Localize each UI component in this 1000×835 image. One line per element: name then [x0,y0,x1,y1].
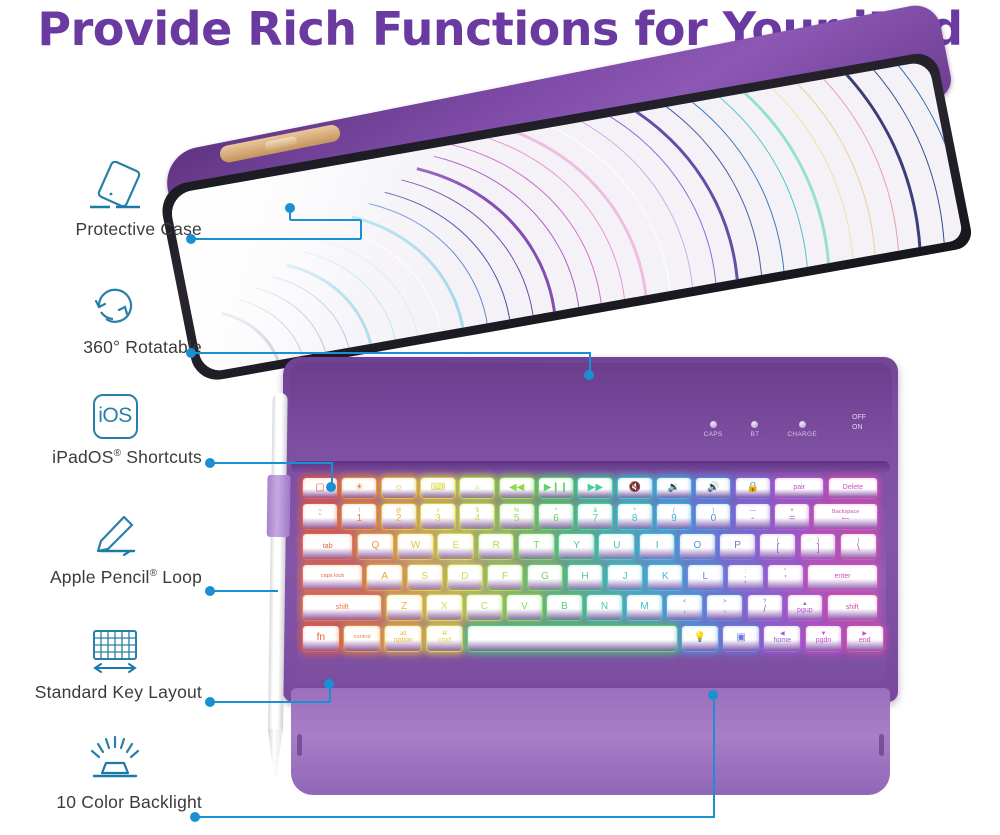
pencil-tip [267,729,283,777]
key-fn[interactable]: fn [302,625,340,652]
key-label: ] [817,544,820,555]
key-key-n[interactable]: N [586,594,623,621]
key-period[interactable]: >. [706,594,743,621]
key-slash[interactable]: ?/ [747,594,784,621]
key-key-u[interactable]: U [598,533,635,560]
key-label: T [533,541,539,552]
key-key-g[interactable]: G [527,564,564,591]
key-digit-0[interactable]: )0 [695,503,731,530]
key-brightness-down[interactable]: ☀ [341,477,377,499]
key-shift-right[interactable]: shift [827,594,878,621]
key-label: end [859,637,871,644]
key-brightness-up[interactable]: ☼ [381,477,417,499]
key-label: Delete [843,484,863,491]
feature-protective-case: Protective Case [0,157,230,240]
key-arrow-up[interactable]: ▲pgup [787,594,824,621]
key-key-q[interactable]: Q [357,533,394,560]
key-label: ` [318,514,321,525]
volume-up-icon: 🔊 [707,483,719,494]
bottom-row: fncontrolaltoption⌘cmd💡▣◀home▼pgdn▶end [302,625,881,652]
key-key-b[interactable]: B [546,594,583,621]
ipad-device [152,9,975,403]
key-backslash[interactable]: |\ [840,533,877,560]
key-label: K [662,572,669,583]
key-control[interactable]: control [343,625,381,652]
indicator-charge: CHARGE [787,421,817,438]
brightness-down-icon: ☀ [355,483,364,494]
key-key-p[interactable]: P [719,533,756,560]
key-key-y[interactable]: Y [558,533,595,560]
key-key-t[interactable]: T [518,533,555,560]
key-pair[interactable]: pair [774,477,824,499]
key-label: Z [401,602,407,613]
key-volume-down[interactable]: 🔉 [656,477,692,499]
key-label: enter [834,573,850,580]
callout-dot-ipados-end [326,482,336,492]
key-arrow-down[interactable]: ▼pgdn [805,625,843,652]
pencil-body [268,393,288,733]
key-label: 7 [593,514,599,525]
key-label: W [411,541,420,552]
feature-rotatable: 360° Rotatable [0,275,230,358]
key-digit-7[interactable]: &7 [577,503,613,530]
key-label: M [640,602,648,613]
key-search[interactable]: ⌕ [459,477,495,499]
key-key-r[interactable]: R [478,533,515,560]
key-volume-up[interactable]: 🔊 [695,477,731,499]
key-lock[interactable]: 🔒 [735,477,771,499]
brightness-up-icon: ☼ [394,483,403,494]
search-icon: ⌕ [474,483,480,494]
key-label: A [381,572,388,583]
keyboard-backlight-icon: ⌨ [431,483,445,494]
key-label: 2 [396,514,402,525]
leader-line-hinge [290,219,361,221]
indicator-lamp-bt [751,421,758,428]
leader-line-hinge-riser [289,208,291,220]
key-label: pgup [797,607,813,614]
indicator-label-bt: BT [750,431,759,438]
key-delete[interactable]: Delete [828,477,878,499]
key-label: U [613,541,620,552]
feature-label: Standard Key Layout [0,682,230,703]
key-digit-2[interactable]: @2 [381,503,417,530]
feature-backlight: 10 Color Backlight [0,730,230,813]
ios-badge-icon: iOS [0,385,230,447]
backlight-glow-icon [0,730,230,792]
leader-line-pencil [210,590,278,592]
apple-pencil [263,393,292,778]
feature-ipados-shortcuts: iOS iPadOS® Shortcuts [0,385,230,468]
feature-key-layout: Standard Key Layout [0,620,230,703]
key-label: 8 [632,514,638,525]
key-label: Y [573,541,580,552]
key-arrow-right[interactable]: ▶end [846,625,884,652]
key-key-v[interactable]: V [506,594,543,621]
leader-line-keylayout [210,701,330,703]
key-label: fn [317,633,325,644]
key-label: 3 [435,514,441,525]
callout-dot-backlight-end [708,690,718,700]
key-tab[interactable]: tab [302,533,353,560]
key-quote[interactable]: "' [767,564,804,591]
key-arrow-left[interactable]: ◀home [763,625,801,652]
key-label: Q [371,541,379,552]
key-label: V [521,602,528,613]
lip-notch-right [879,734,884,756]
key-digit-6[interactable]: ^6 [538,503,574,530]
key-label: F [502,572,508,583]
leader-line-protective-case-riser [360,220,362,239]
key-option[interactable]: altoption [384,625,422,652]
key-digit-5[interactable]: %5 [499,503,535,530]
key-key-i[interactable]: I [639,533,676,560]
key-label: B [561,602,568,613]
key-label: N [601,602,608,613]
number-row: ~`!1@2#3$4%5^6&7*8(9)0—-+=Backspace⟵ [302,503,881,530]
key-key-j[interactable]: J [607,564,644,591]
key-label: - [751,514,754,525]
key-caps-lock[interactable]: caps lock [302,564,363,591]
key-label: J [623,572,628,583]
leader-line-rotatable [191,352,591,354]
lock-icon: 🔒 [746,483,758,494]
key-tilde[interactable]: ~` [302,503,338,530]
ios-badge-text: iOS [93,394,138,439]
key-label: O [693,541,701,552]
key-key-x[interactable]: X [426,594,463,621]
key-comma[interactable]: <, [666,594,703,621]
key-label: cmd [438,637,451,644]
case-front-lip [291,687,890,795]
key-play-pause[interactable]: ▶❙❙ [538,477,574,499]
lip-notch-left [297,734,302,756]
indicator-lamp-caps [710,421,717,428]
indicator-lamp-charge [799,421,806,428]
home-row: caps lockASDFGHJKL:;"'enter [302,564,881,591]
mute-icon: 🔇 [628,483,640,494]
globe-key-icon: ▣ [736,633,745,644]
feature-pencil-loop: Apple Pencil® Loop [0,505,230,588]
key-label: shift [846,604,859,611]
key-label: S [421,572,428,583]
power-switch-label: OFF ON [852,413,866,433]
tablet-case-icon [0,157,230,219]
key-enter[interactable]: enter [807,564,878,591]
key-label: caps lock [321,574,344,580]
key-digit-4[interactable]: $4 [459,503,495,530]
key-label: = [789,514,795,525]
key-digit-9[interactable]: (9 [656,503,692,530]
callout-dot-keylayout-end [324,679,334,689]
key-key-h[interactable]: H [567,564,604,591]
key-well: ▢☀☼⌨⌕◀◀▶❙❙▶▶🔇🔉🔊🔒pairDelete~`!1@2#3$4%5^6… [297,473,886,683]
key-command[interactable]: ⌘cmd [426,625,464,652]
key-digit-3[interactable]: #3 [420,503,456,530]
product-infographic: Provide Rich Functions for Your iPad CAP… [0,0,1000,835]
key-label: P [734,541,741,552]
key-mute[interactable]: 🔇 [617,477,653,499]
rotate-360-icon [0,275,230,337]
key-sub-label: ⟵ [842,517,850,523]
key-rewind[interactable]: ◀◀ [499,477,535,499]
backlight-key-icon: 💡 [694,633,706,644]
key-label: ; [744,575,747,586]
key-backlight-key[interactable]: 💡 [681,625,719,652]
key-minus[interactable]: —- [735,503,771,530]
key-label: 4 [475,514,481,525]
rewind-icon: ◀◀ [509,483,524,494]
stylus-pen-icon [0,505,230,567]
key-label: tab [323,543,333,550]
key-label: 6 [553,514,559,525]
key-label: 1 [356,514,362,525]
callout-dot-rotatable-end [584,370,594,380]
key-key-d[interactable]: D [447,564,484,591]
qwerty-row: tabQWERTYUIOP{[}]|\ [302,533,881,560]
key-label: R [492,541,499,552]
key-bracket-right[interactable]: }] [800,533,837,560]
key-label: 9 [671,514,677,525]
case-shelf [291,461,890,473]
key-label: G [541,572,549,583]
leader-line-backlight-riser [713,700,715,817]
key-equals[interactable]: += [774,503,810,530]
key-label: [ [776,544,779,555]
key-label: shift [336,604,349,611]
key-space[interactable] [467,625,678,652]
key-label: pair [793,484,805,491]
key-fast-forward[interactable]: ▶▶ [577,477,613,499]
key-key-o[interactable]: O [679,533,716,560]
key-label: home [774,637,792,644]
key-label: control [354,635,371,641]
key-label: C [481,602,488,613]
keyboard-base: CAPSBTCHARGE OFF ON ▢☀☼⌨⌕◀◀▶❙❙▶▶🔇🔉🔊🔒pair… [283,357,898,702]
key-key-l[interactable]: L [687,564,724,591]
leader-line-protective-case [191,238,361,240]
key-key-e[interactable]: E [437,533,474,560]
key-keyboard-backlight[interactable]: ⌨ [420,477,456,499]
key-label: ' [784,575,786,586]
indicator-caps: CAPS [704,421,723,438]
key-label: . [723,605,726,616]
key-key-w[interactable]: W [397,533,434,560]
power-on-label: ON [852,423,866,433]
key-key-z[interactable]: Z [386,594,423,621]
leader-line-ipados [210,462,332,464]
key-key-s[interactable]: S [407,564,444,591]
home-icon: ▢ [315,483,324,494]
key-label: 0 [711,514,717,525]
key-key-m[interactable]: M [626,594,663,621]
key-label: H [581,572,588,583]
key-label: / [763,605,766,616]
key-backspace[interactable]: Backspace⟵ [813,503,878,530]
status-indicators: CAPSBTCHARGE [704,421,817,438]
key-semicolon[interactable]: :; [727,564,764,591]
feature-label: Apple Pencil® Loop [0,567,230,588]
fast-forward-icon: ▶▶ [588,483,603,494]
keyboard-width-icon [0,620,230,682]
key-label: 5 [514,514,520,525]
power-off-label: OFF [852,413,866,423]
key-label: option [394,637,413,644]
key-label: Backspace [832,510,859,516]
indicator-bt: BT [750,421,759,438]
indicator-label-charge: CHARGE [787,431,817,438]
key-key-c[interactable]: C [466,594,503,621]
key-digit-8[interactable]: *8 [617,503,653,530]
pencil-loop-holder [267,475,291,537]
indicator-label-caps: CAPS [704,431,723,438]
key-bracket-left[interactable]: {[ [759,533,796,560]
play-pause-icon: ▶❙❙ [544,483,568,494]
feature-label: 10 Color Backlight [0,792,230,813]
key-key-f[interactable]: F [487,564,524,591]
key-label: \ [857,544,860,555]
key-label: , [683,605,686,616]
volume-down-icon: 🔉 [668,483,680,494]
key-key-a[interactable]: A [366,564,403,591]
key-shift-left[interactable]: shift [302,594,382,621]
key-label: pgdn [816,637,832,644]
key-label: X [441,602,448,613]
key-label: D [461,572,468,583]
key-label: E [452,541,459,552]
key-globe-key[interactable]: ▣ [722,625,760,652]
key-key-k[interactable]: K [647,564,684,591]
shift-row: shiftZXCVBNM<,>.?/▲pgupshift [302,594,881,621]
feature-label: iPadOS® Shortcuts [0,447,230,468]
key-label: L [702,572,708,583]
leader-line-backlight [195,816,715,818]
key-label: I [656,541,659,552]
function-row: ▢☀☼⌨⌕◀◀▶❙❙▶▶🔇🔉🔊🔒pairDelete [302,477,881,499]
key-digit-1[interactable]: !1 [341,503,377,530]
